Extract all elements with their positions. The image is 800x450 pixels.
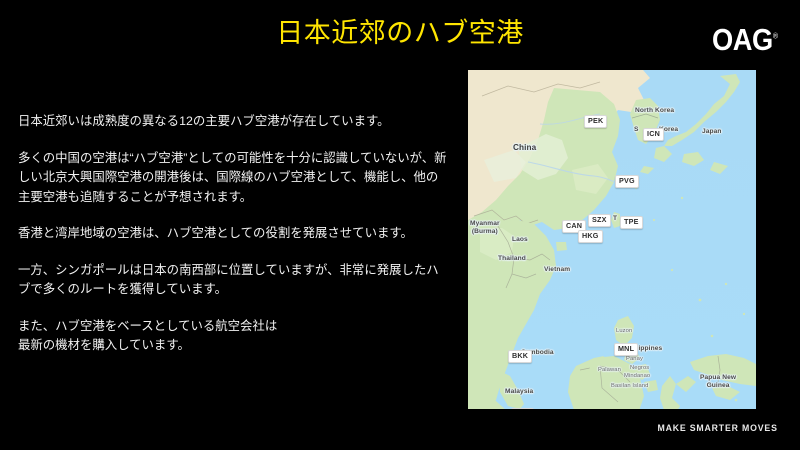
airport-marker-pek[interactable]: PEK <box>584 115 607 128</box>
registered-mark-icon: ® <box>773 32 778 41</box>
body-copy: 日本近郊いは成熟度の異なる12の主要ハブ空港が存在しています。 多くの中国の空港… <box>18 112 448 356</box>
page-title: 日本近郊のハブ空港 <box>0 17 800 49</box>
body-paragraph: 日本近郊いは成熟度の異なる12の主要ハブ空港が存在しています。 <box>18 112 448 132</box>
brand-tagline: MAKE SMARTER MOVES <box>658 423 778 434</box>
body-paragraph: また、ハブ空港をベースとしている航空会社は 最新の機材を購入しています。 <box>18 317 448 356</box>
map-airport-markers[interactable]: PEKICNPVGTPESZXCANHKGBKKMNLKULSINCGK <box>468 70 756 409</box>
asia-hub-airports-map[interactable]: ChinaNorth KoreaKoreaSJapanMyanmar (Burm… <box>468 70 756 409</box>
airport-marker-tpe[interactable]: TPE <box>620 216 643 229</box>
airport-marker-icn[interactable]: ICN <box>643 128 664 141</box>
airport-marker-hkg[interactable]: HKG <box>578 230 603 243</box>
body-paragraph: 多くの中国の空港は“ハブ空港”としての可能性を十分に認識していないが、新しい北京… <box>18 149 448 208</box>
slide-canvas: 日本近郊のハブ空港 OAG® MAKE SMARTER MOVES 日本近郊いは… <box>0 0 800 450</box>
oag-logo: OAG® <box>712 24 778 55</box>
airport-marker-szx[interactable]: SZX <box>588 214 611 227</box>
airport-marker-kul[interactable]: KUL <box>511 408 534 409</box>
airport-marker-mnl[interactable]: MNL <box>614 343 638 356</box>
body-paragraph: 香港と湾岸地域の空港は、ハブ空港としての役割を発展させています。 <box>18 224 448 244</box>
body-paragraph: 一方、シンガポールは日本の南西部に位置していますが、非常に発展したハブで多くのル… <box>18 261 448 300</box>
logo-wordmark: OAG <box>712 22 773 57</box>
airport-marker-bkk[interactable]: BKK <box>508 350 532 363</box>
airport-marker-pvg[interactable]: PVG <box>615 175 639 188</box>
